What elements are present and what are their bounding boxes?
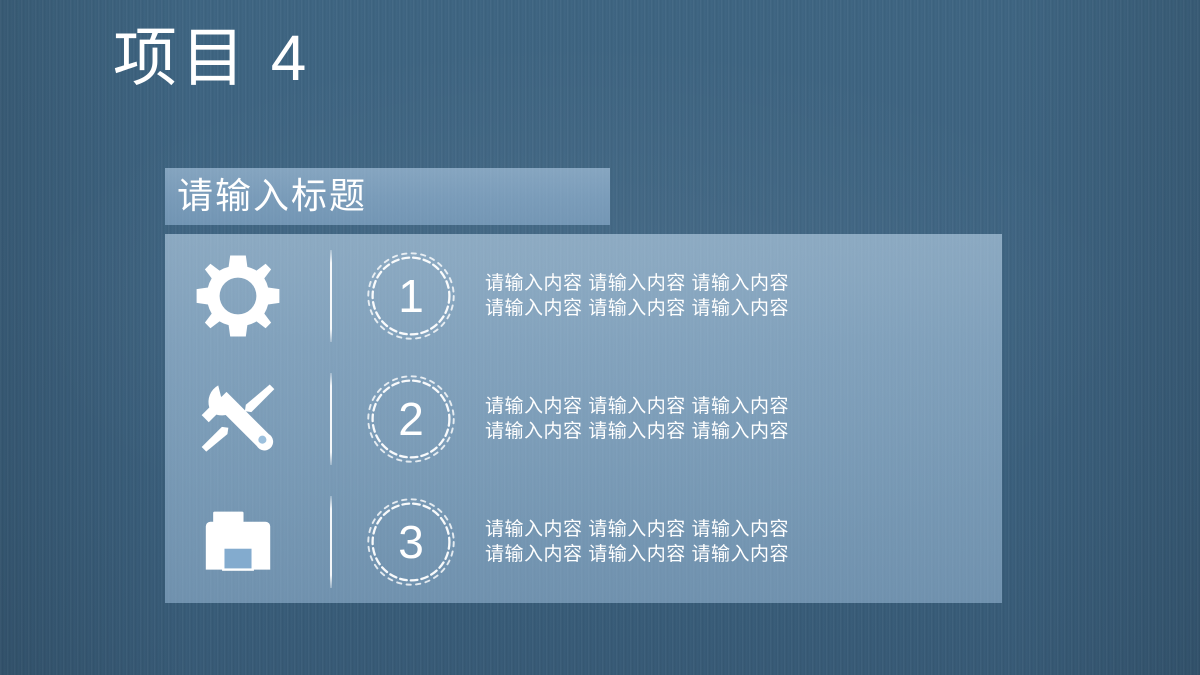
number-badge: 3 xyxy=(351,494,471,590)
badge-number: 3 xyxy=(398,519,424,565)
row-divider xyxy=(311,496,351,588)
folder-icon xyxy=(165,496,311,588)
list-item[interactable]: 3 请输入内容 请输入内容 请输入内容 请输入内容 请输入内容 请输入内容 xyxy=(165,480,1002,603)
number-badge: 1 xyxy=(351,248,471,344)
number-badge: 2 xyxy=(351,371,471,467)
wrench-screwdriver-icon xyxy=(165,373,311,465)
list-item[interactable]: 1 请输入内容 请输入内容 请输入内容 请输入内容 请输入内容 请输入内容 xyxy=(165,234,1002,357)
subtitle-text: 请输入标题 xyxy=(177,173,367,219)
badge-number: 2 xyxy=(398,396,424,442)
list-item[interactable]: 2 请输入内容 请输入内容 请输入内容 请输入内容 请输入内容 请输入内容 xyxy=(165,357,1002,480)
badge-number: 1 xyxy=(398,273,424,319)
page-title: 项目 4 xyxy=(113,22,310,96)
text-line: 请输入内容 请输入内容 请输入内容 xyxy=(485,517,1002,542)
gear-icon xyxy=(165,250,311,342)
row-divider xyxy=(311,250,351,342)
text-line: 请输入内容 请输入内容 请输入内容 xyxy=(485,542,1002,567)
slide-canvas: 项目 4 请输入标题 xyxy=(0,0,1200,675)
text-line: 请输入内容 请输入内容 请输入内容 xyxy=(485,271,1002,296)
row-divider xyxy=(311,373,351,465)
text-line: 请输入内容 请输入内容 请输入内容 xyxy=(485,394,1002,419)
row-text: 请输入内容 请输入内容 请输入内容 请输入内容 请输入内容 请输入内容 xyxy=(471,517,1002,567)
text-line: 请输入内容 请输入内容 请输入内容 xyxy=(485,296,1002,321)
row-text: 请输入内容 请输入内容 请输入内容 请输入内容 请输入内容 请输入内容 xyxy=(471,271,1002,321)
row-text: 请输入内容 请输入内容 请输入内容 请输入内容 请输入内容 请输入内容 xyxy=(471,394,1002,444)
text-line: 请输入内容 请输入内容 请输入内容 xyxy=(485,419,1002,444)
content-rows: 1 请输入内容 请输入内容 请输入内容 请输入内容 请输入内容 请输入内容 xyxy=(165,234,1002,603)
